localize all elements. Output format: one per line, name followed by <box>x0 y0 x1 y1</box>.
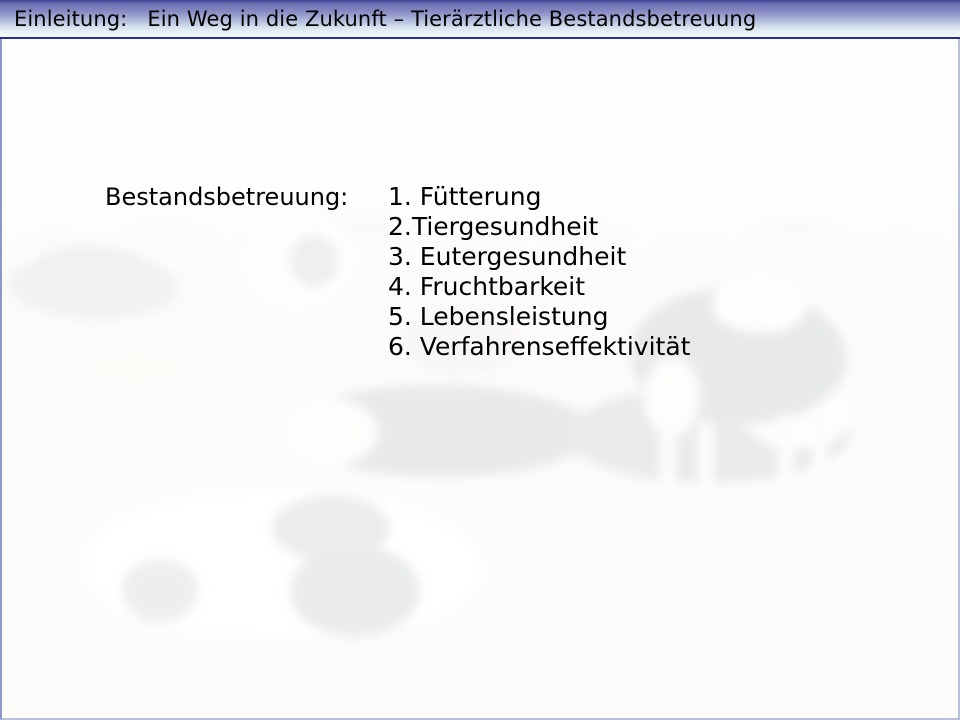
cow-silhouette-far-left <box>2 239 182 329</box>
list-item: 6. Verfahrenseffektivität <box>388 332 690 362</box>
numbered-topic-list: 1. Fütterung 2.Tiergesundheit 3. Euterge… <box>388 182 690 362</box>
slide-content-area: Bestandsbetreuung: 1. Fütterung 2.Tierge… <box>0 39 960 720</box>
content-heading: Bestandsbetreuung: <box>105 185 348 209</box>
cow-silhouette-foreground-lying <box>62 459 502 669</box>
list-item: 1. Fütterung <box>388 182 690 212</box>
background-photo-pasture-cows <box>2 39 958 718</box>
list-item: 4. Fruchtbarkeit <box>388 272 690 302</box>
slide-title-group: Einleitung: Ein Weg in die Zukunft – Tie… <box>14 2 756 36</box>
list-item: 3. Eutergesundheit <box>388 242 690 272</box>
cow-silhouette-standing-left <box>202 199 382 369</box>
slide-section-label: Einleitung: <box>14 9 127 30</box>
list-item: 5. Lebensleistung <box>388 302 690 332</box>
slide-title-bar: Einleitung: Ein Weg in die Zukunft – Tie… <box>0 0 960 39</box>
presentation-slide: Einleitung: Ein Weg in die Zukunft – Tie… <box>0 0 960 720</box>
list-item: 2.Tiergesundheit <box>388 212 690 242</box>
slide-title-text: Ein Weg in die Zukunft – Tierärztliche B… <box>147 9 756 30</box>
